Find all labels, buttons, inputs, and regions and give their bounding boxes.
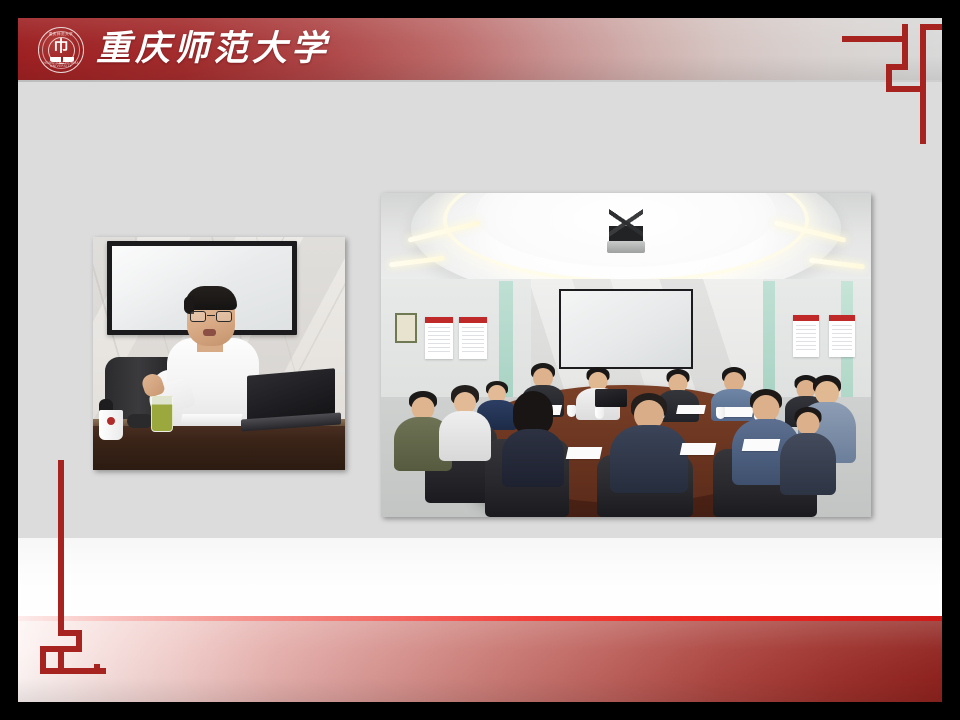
- bottom-white-band: [18, 538, 942, 620]
- photo-meeting-cup: [595, 407, 604, 419]
- photo-meeting-wall-notice: [425, 317, 453, 359]
- photo-speaker-paper-cup: [99, 410, 123, 440]
- chinese-fret-corner-ornament-bottom-left: [36, 560, 146, 680]
- seal-bottom-text: CHONGQING NORMAL UNIVERSITY: [39, 62, 83, 68]
- photo-meeting-projector: [607, 241, 645, 253]
- slide-frame: 重庆师范大学 巾 CHONGQING NORMAL UNIVERSITY 重庆师…: [0, 0, 960, 720]
- photo-speaker-microphone: [127, 414, 153, 428]
- photo-speaker-tea-cup: [151, 396, 173, 432]
- university-seal-icon: 重庆师范大学 巾 CHONGQING NORMAL UNIVERSITY: [38, 27, 84, 73]
- photo-meeting-wall-plaque: [395, 313, 417, 343]
- photo-meeting-paper: [742, 439, 781, 451]
- photo-meeting-cup: [716, 407, 725, 419]
- photo-meeting-cup: [567, 405, 576, 417]
- photo-speaker: [93, 237, 345, 470]
- photo-meeting-person: [781, 407, 835, 495]
- photo-meeting-paper: [566, 447, 603, 459]
- seal-top-text: 重庆师范大学: [39, 33, 83, 37]
- photo-speaker-hair: [185, 286, 237, 310]
- photo-meeting-wall-notice: [793, 315, 819, 357]
- slide-canvas: 重庆师范大学 巾 CHONGQING NORMAL UNIVERSITY 重庆师…: [18, 18, 942, 702]
- photo-meeting-projection-screen: [559, 289, 693, 369]
- header-underline: [18, 80, 942, 82]
- photo-meeting: [381, 193, 871, 517]
- photo-speaker-mouth: [203, 329, 216, 336]
- photo-speaker-papers: [180, 414, 243, 426]
- university-name: 重庆师范大学: [96, 26, 330, 72]
- photo-meeting-paper: [680, 443, 717, 455]
- photo-meeting-person: [439, 385, 491, 461]
- photo-speaker-glasses: [189, 311, 233, 322]
- seal-center-glyph: 巾: [39, 39, 83, 54]
- photo-speaker-desk: [93, 426, 345, 470]
- photo-meeting-person: [503, 391, 563, 487]
- bottom-gradient-band: [18, 621, 942, 702]
- photo-meeting-wall-notice: [829, 315, 855, 357]
- bottom-band-sheen: [18, 621, 942, 702]
- photo-meeting-person: [611, 393, 687, 493]
- photo-meeting-wall-notice: [459, 317, 487, 359]
- photo-meeting-wall-accent-left: [499, 281, 513, 397]
- chinese-fret-corner-ornament-top-right: [842, 36, 942, 146]
- photo-meeting-projector-mount: [609, 203, 643, 243]
